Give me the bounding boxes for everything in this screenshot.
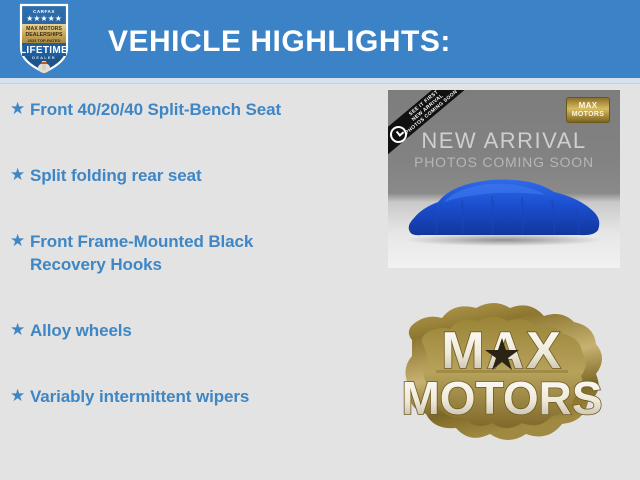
covered-car-icon: [404, 168, 604, 240]
star-bullet-icon: ★: [10, 319, 30, 341]
list-item: ★ Front Frame-Mounted Black Recovery Hoo…: [0, 230, 320, 276]
new-arrival-photo[interactable]: SEE IT FIRST NEW ARRIVAL PHOTOS COMING S…: [388, 90, 620, 268]
star-bullet-icon: ★: [10, 164, 30, 186]
carfax-top-rated-dealer-badge: CARFAX ★★★★★ MAX MOTORS DEALERSHIPS 2023…: [18, 2, 70, 74]
star-bullet-icon: ★: [10, 385, 30, 407]
max-motors-watermark: MAX MOTORS: [566, 97, 610, 123]
list-item-label: Split folding rear seat: [30, 164, 202, 187]
watermark-line-1: MAX: [579, 101, 598, 110]
photo-headline: NEW ARRIVAL: [388, 128, 620, 154]
list-item-label: Front Frame-Mounted Black Recovery Hooks: [30, 230, 320, 276]
list-item: ★ Alloy wheels: [0, 319, 380, 342]
list-item: ★ Split folding rear seat: [0, 164, 380, 187]
list-item-label: Front 40/20/40 Split-Bench Seat: [30, 98, 281, 121]
header-divider: [0, 78, 640, 84]
list-item: ★ Variably intermittent wipers: [0, 385, 380, 408]
star-bullet-icon: ★: [10, 98, 30, 120]
watermark-line-2: MOTORS: [572, 110, 604, 119]
list-item: ★ Front 40/20/40 Split-Bench Seat: [0, 98, 380, 121]
svg-text:MOTORS: MOTORS: [401, 372, 602, 424]
svg-text:2023 TOP-RATED: 2023 TOP-RATED: [28, 38, 61, 43]
page-title: VEHICLE HIGHLIGHTS:: [108, 25, 451, 59]
svg-text:★★★★★: ★★★★★: [26, 14, 62, 23]
star-bullet-icon: ★: [10, 230, 30, 252]
svg-text:DEALER: DEALER: [32, 55, 56, 60]
list-item-label: Alloy wheels: [30, 319, 132, 342]
list-item-label: Variably intermittent wipers: [30, 385, 249, 408]
vehicle-highlights-list: ★ Front 40/20/40 Split-Bench Seat ★ Spli…: [0, 98, 380, 451]
max-motors-logo: MAX MOTORS: [398, 296, 612, 456]
